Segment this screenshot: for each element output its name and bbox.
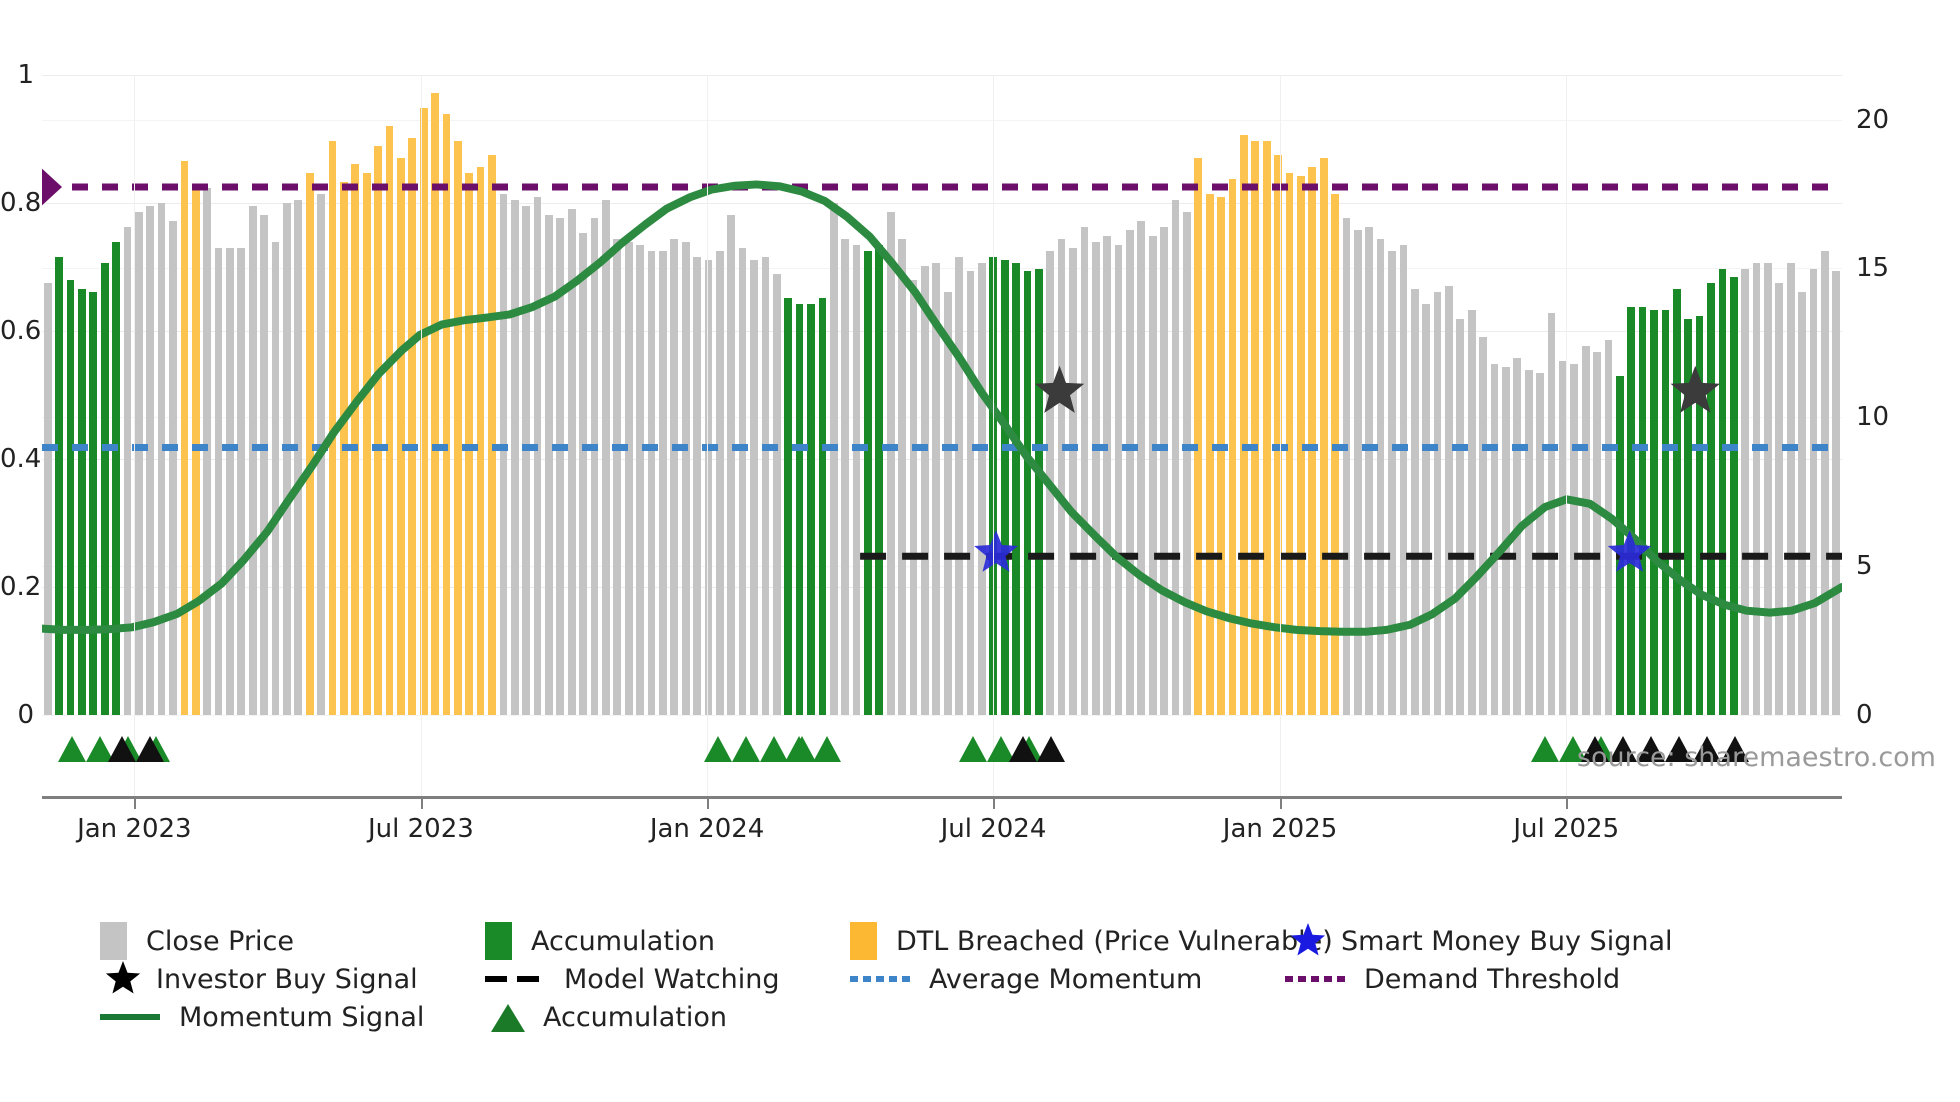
legend-item-label: Close Price (146, 926, 294, 957)
chart-legend: Close PriceAccumulationDTL Breached (Pri… (100, 922, 1940, 1036)
price-bar (329, 141, 337, 716)
x-tick-label: Jan 2023 (77, 814, 192, 844)
price-bar (773, 274, 781, 715)
chart-root: 00.20.40.60.81 05101520 Jan 2023Jul 2023… (0, 0, 1960, 1102)
price-bar (1194, 158, 1202, 715)
price-bar (898, 239, 906, 715)
price-bar (1069, 248, 1077, 715)
price-bar (1115, 245, 1123, 715)
price-bar (727, 215, 735, 715)
price-bar (1229, 179, 1237, 715)
price-bar (260, 215, 268, 715)
gridline (42, 715, 1842, 716)
price-bar (1263, 141, 1271, 716)
price-bar (1343, 218, 1351, 715)
price-bar (1172, 200, 1180, 715)
legend-star-glyph (1288, 922, 1328, 960)
price-bar (853, 245, 861, 715)
price-bar (1012, 263, 1020, 715)
price-bar (1479, 337, 1487, 715)
price-bar (192, 185, 200, 715)
legend-item-smart-money-buy-signal[interactable]: Smart Money Buy Signal (1285, 922, 1673, 960)
price-bar (1377, 239, 1385, 715)
plot-area (42, 75, 1842, 715)
price-bar (511, 200, 519, 715)
price-bar (78, 289, 86, 715)
price-bar (921, 266, 929, 715)
legend-star-icon (1285, 922, 1331, 960)
accumulation-triangle-marker (1037, 736, 1065, 762)
price-bar (294, 200, 302, 715)
price-bar (1491, 364, 1499, 715)
y-left-tick-label: 0.4 (0, 444, 34, 474)
accumulation-triangle-marker (760, 736, 788, 762)
legend-dot-glyph (889, 976, 897, 982)
price-bar (306, 173, 314, 715)
price-bar (1616, 376, 1624, 715)
price-bar (1183, 212, 1191, 715)
y-right-tick-label: 5 (1856, 551, 1873, 581)
price-bar (1798, 292, 1806, 715)
price-bar (408, 138, 416, 715)
price-bar (659, 251, 667, 715)
price-bar (1092, 242, 1100, 715)
price-bar (1525, 370, 1533, 715)
price-bar (1126, 230, 1134, 715)
legend-row: Investor Buy SignalModel WatchingAverage… (100, 960, 1940, 998)
legend-solid-line-icon (100, 998, 160, 1036)
price-bar (1764, 263, 1772, 715)
x-axis-line (42, 796, 1842, 799)
price-bar (1251, 141, 1259, 716)
price-bar (1149, 236, 1157, 715)
price-bar (1354, 230, 1362, 715)
price-bar (762, 257, 770, 715)
price-bar (636, 245, 644, 715)
price-bar (910, 280, 918, 715)
price-bar (55, 257, 63, 715)
x-tick-mark (1280, 796, 1282, 809)
legend-dotted-line-icon (850, 960, 910, 998)
legend-item-demand-threshold[interactable]: Demand Threshold (1285, 960, 1620, 998)
price-bar (44, 283, 52, 715)
legend-dot-glyph (850, 976, 858, 982)
price-bar (670, 239, 678, 715)
x-tick-label: Jul 2023 (368, 814, 474, 844)
price-bar (1388, 251, 1396, 715)
y-right-tick-label: 15 (1856, 253, 1889, 283)
legend-dot-glyph (1324, 976, 1332, 982)
price-bar (1434, 292, 1442, 715)
price-bar (135, 212, 143, 715)
legend-dot-glyph (1285, 976, 1293, 982)
legend-item-label: Accumulation (531, 926, 715, 957)
price-bar (591, 218, 599, 715)
source-annotation: source: sharemaestro.com (1577, 742, 1936, 773)
price-bar (1365, 227, 1373, 715)
x-gridline (707, 75, 708, 796)
price-bar (568, 209, 576, 715)
price-bar (1160, 227, 1168, 715)
price-bar (807, 304, 815, 715)
price-bar (1662, 310, 1670, 715)
legend-dash-glyph (517, 976, 539, 982)
price-bar (1536, 373, 1544, 715)
legend-dot-glyph (1298, 976, 1306, 982)
legend-item-model-watching[interactable]: Model Watching (485, 960, 779, 998)
price-bar (1513, 358, 1521, 715)
price-bar (1810, 269, 1818, 716)
y-left-tick-label: 1 (0, 60, 34, 90)
legend-item-dtl-breached-price-vulnerable[interactable]: DTL Breached (Price Vulnerable) (850, 922, 1333, 960)
legend-row: Close PriceAccumulationDTL Breached (Pri… (100, 922, 1940, 960)
price-bar (1673, 289, 1681, 715)
legend-item-investor-buy-signal[interactable]: Investor Buy Signal (100, 960, 418, 998)
legend-line-glyph (100, 1014, 160, 1020)
legend-dash-glyph (485, 976, 507, 982)
price-bar (1035, 269, 1043, 716)
price-bar (819, 298, 827, 715)
price-bar (146, 206, 154, 715)
price-bar (1639, 307, 1647, 715)
price-bar (1240, 135, 1248, 715)
x-tick-label: Jan 2024 (650, 814, 765, 844)
legend-square-icon (850, 922, 877, 960)
price-bar (534, 197, 542, 715)
x-gridline (1280, 75, 1281, 796)
legend-item-close-price[interactable]: Close Price (100, 922, 294, 960)
price-bar (625, 242, 633, 715)
legend-item-momentum-signal[interactable]: Momentum Signal (100, 998, 424, 1036)
price-bar (112, 242, 120, 715)
price-bar (1582, 346, 1590, 715)
accumulation-triangle-marker (959, 736, 987, 762)
x-gridline (993, 75, 994, 796)
price-bar (545, 215, 553, 715)
price-bar (1707, 283, 1715, 715)
accumulation-triangle-marker (136, 736, 164, 762)
price-bar (1024, 271, 1032, 715)
price-bar (1001, 260, 1009, 715)
legend-dot-glyph (1311, 976, 1319, 982)
price-bar (955, 257, 963, 715)
price-bar (705, 260, 713, 715)
price-bar (967, 271, 975, 715)
price-bar (841, 239, 849, 715)
price-bar (602, 200, 610, 715)
price-bar (101, 263, 109, 715)
price-bar (237, 248, 245, 715)
accumulation-triangle-marker (785, 736, 813, 762)
x-gridline (421, 75, 422, 796)
price-bar (1821, 251, 1829, 715)
price-bar (397, 158, 405, 715)
accumulation-triangle-marker (704, 736, 732, 762)
price-bar (682, 242, 690, 715)
x-gridline (1566, 75, 1567, 796)
legend-item-label: Model Watching (564, 964, 779, 995)
price-bar (500, 194, 508, 715)
price-bar (283, 203, 291, 715)
price-bar (1468, 310, 1476, 715)
price-bar (67, 280, 75, 715)
price-bar (1650, 310, 1658, 715)
price-bar (1775, 283, 1783, 715)
price-bar (158, 203, 166, 715)
price-bar (648, 251, 656, 715)
price-bar (887, 212, 895, 715)
legend-item-label: Average Momentum (929, 964, 1202, 995)
x-tick-mark (421, 796, 423, 809)
price-bar (465, 173, 473, 715)
price-bar (1206, 194, 1214, 715)
accumulation-triangle-marker (813, 736, 841, 762)
price-bar (1570, 364, 1578, 715)
price-bar (124, 227, 132, 715)
price-bar (443, 114, 451, 715)
y-left-tick-label: 0.2 (0, 572, 34, 602)
price-bar (181, 161, 189, 715)
price-bar (477, 167, 485, 715)
legend-item-label: Momentum Signal (179, 1002, 424, 1033)
price-bar (169, 221, 177, 715)
y-right-tick-label: 10 (1856, 402, 1889, 432)
accumulation-triangle-marker (58, 736, 86, 762)
y-left-tick-label: 0 (0, 700, 34, 730)
price-bar (830, 203, 838, 715)
legend-item-label: Investor Buy Signal (156, 964, 418, 995)
price-bar (374, 146, 382, 715)
price-bar (249, 206, 257, 715)
price-bar (739, 248, 747, 715)
gridline (42, 715, 1842, 716)
price-bar (363, 173, 371, 715)
price-bar (784, 298, 792, 715)
price-bar (875, 245, 883, 715)
price-bar (1502, 367, 1510, 715)
price-bar (1719, 269, 1727, 716)
accumulation-triangle-marker (1009, 736, 1037, 762)
price-bar (1400, 245, 1408, 715)
price-bar (1286, 173, 1294, 715)
price-bar (340, 182, 348, 715)
price-bar (716, 251, 724, 715)
price-bar (1593, 352, 1601, 715)
price-bar (1137, 221, 1145, 715)
price-bar (351, 164, 359, 715)
price-bar (1753, 263, 1761, 715)
x-tick-mark (1566, 796, 1568, 809)
price-bar (1217, 197, 1225, 715)
legend-dot-glyph (863, 976, 871, 982)
legend-square-icon (100, 922, 127, 960)
price-bar (750, 260, 758, 715)
legend-item-accumulation[interactable]: Accumulation (485, 922, 715, 960)
legend-dashed-line-icon (485, 960, 545, 998)
price-bar (431, 93, 439, 715)
price-bar (1411, 289, 1419, 715)
price-bar (613, 239, 621, 715)
x-tick-label: Jan 2025 (1223, 814, 1338, 844)
price-bar (1331, 194, 1339, 715)
price-bar (944, 292, 952, 715)
accumulation-triangle-band (42, 726, 1842, 762)
price-bar (226, 248, 234, 715)
accumulation-triangle-marker (1531, 736, 1559, 762)
price-bar (1832, 271, 1840, 715)
y-right-tick-label: 20 (1856, 105, 1889, 135)
price-bar (864, 251, 872, 715)
legend-row: Momentum SignalAccumulation (100, 998, 1940, 1036)
legend-item-label: Smart Money Buy Signal (1341, 926, 1673, 957)
price-bar (556, 218, 564, 715)
price-bar (1103, 236, 1111, 715)
price-bar (1297, 176, 1305, 715)
y-right-tick-label: 0 (1856, 700, 1873, 730)
legend-dot-glyph (876, 976, 884, 982)
price-bar (796, 304, 804, 715)
price-bar (1627, 307, 1635, 715)
price-bar (1605, 340, 1613, 715)
price-bar (1422, 304, 1430, 715)
accumulation-triangle-marker (732, 736, 760, 762)
x-tick-mark (993, 796, 995, 809)
price-bar (215, 248, 223, 715)
legend-item-label: Demand Threshold (1364, 964, 1620, 995)
accumulation-triangle-marker (108, 736, 136, 762)
price-bar (1696, 316, 1704, 715)
price-bar (272, 242, 280, 715)
x-tick-mark (707, 796, 709, 809)
price-bar (693, 257, 701, 715)
x-tick-label: Jul 2025 (1513, 814, 1619, 844)
price-bar (89, 292, 97, 715)
price-bar (1548, 313, 1556, 715)
price-bar (1787, 263, 1795, 715)
price-bar (978, 263, 986, 715)
bar-series-close-price (42, 75, 1842, 715)
price-bar (522, 206, 530, 715)
price-bar (317, 194, 325, 715)
price-bar (488, 155, 496, 715)
price-bar (1741, 269, 1749, 716)
price-bar (932, 263, 940, 715)
price-bar (1730, 277, 1738, 715)
legend-square-icon (485, 922, 512, 960)
price-bar (1320, 158, 1328, 715)
legend-triangle-glyph (491, 1004, 525, 1032)
price-bar (1684, 319, 1692, 715)
price-bar (1445, 286, 1453, 715)
y-left-tick-label: 0.8 (0, 188, 34, 218)
price-bar (1081, 227, 1089, 715)
price-bar (579, 233, 587, 715)
legend-dot-glyph (902, 976, 910, 982)
legend-dot-glyph (1337, 976, 1345, 982)
legend-star-icon (100, 960, 146, 998)
price-bar (1046, 251, 1054, 715)
legend-triangle-icon (485, 998, 531, 1036)
legend-item-average-momentum[interactable]: Average Momentum (850, 960, 1202, 998)
price-bar (1058, 239, 1066, 715)
price-bar (1308, 167, 1316, 715)
legend-item-label: DTL Breached (Price Vulnerable) (896, 926, 1333, 957)
price-bar (1456, 319, 1464, 715)
legend-item-accumulation[interactable]: Accumulation (485, 998, 727, 1036)
x-tick-label: Jul 2024 (941, 814, 1047, 844)
price-bar (203, 188, 211, 715)
legend-star-glyph (103, 960, 143, 998)
price-bar (454, 141, 462, 716)
price-bar (386, 126, 394, 715)
legend-dotted-line-icon (1285, 960, 1345, 998)
y-left-tick-label: 0.6 (0, 316, 34, 346)
legend-item-label: Accumulation (543, 1002, 727, 1033)
x-tick-mark (134, 796, 136, 809)
x-gridline (134, 75, 135, 796)
